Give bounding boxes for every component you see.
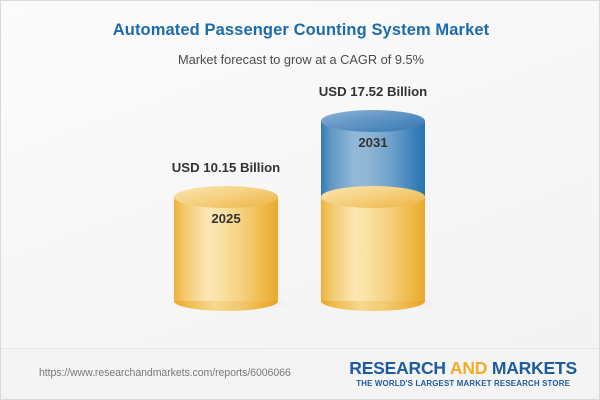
x-axis-label-2031: 2031 [293,135,453,150]
cylinder-top-ellipse [174,186,278,208]
cylinder-segment-base [321,197,425,301]
bar-chart-plot: USD 10.15 Billion 2025 USD 17.52 Billion… [1,1,600,349]
logo-word-and: AND [450,358,487,378]
bar-group-2025: USD 10.15 Billion 2025 [174,197,278,301]
logo-word-markets: MARKETS [487,358,577,378]
cylinder-top-ellipse [321,110,425,132]
logo-wordmark: RESEARCH AND MARKETS [349,359,577,377]
logo-word-research: RESEARCH [349,358,450,378]
x-axis-label-2025: 2025 [146,211,306,226]
value-label-2025: USD 10.15 Billion [116,160,336,175]
bar-group-2031: USD 17.52 Billion 2031 [321,121,425,301]
research-and-markets-logo[interactable]: RESEARCH AND MARKETS THE WORLD'S LARGEST… [349,359,577,388]
value-label-2031: USD 17.52 Billion [263,84,483,99]
report-url[interactable]: https://www.researchandmarkets.com/repor… [39,367,291,379]
logo-tagline: THE WORLD'S LARGEST MARKET RESEARCH STOR… [349,377,577,388]
market-infographic: Automated Passenger Counting System Mark… [0,0,600,400]
segment-divider-ellipse [321,186,425,208]
footer-bar: https://www.researchandmarkets.com/repor… [1,348,599,399]
